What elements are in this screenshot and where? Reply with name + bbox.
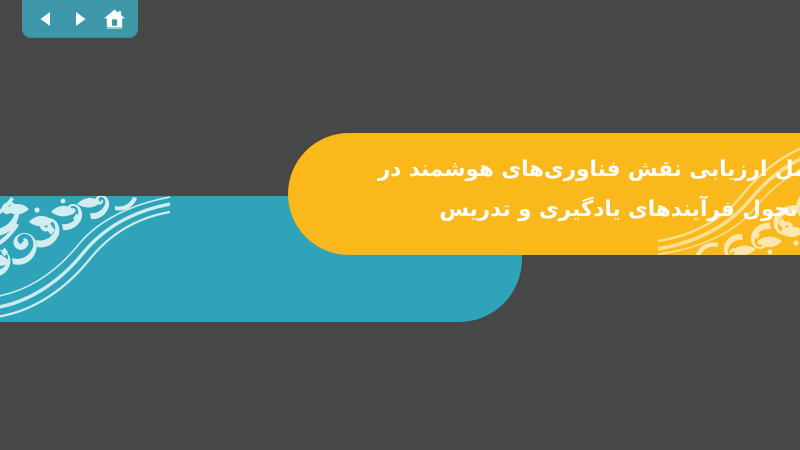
home-icon (103, 8, 126, 30)
triangle-left-icon (36, 9, 56, 29)
slide-title: کامل ارزیابی نقش فناوری‌های هوشمند در تح… (288, 150, 800, 230)
arabesque-ornament-icon (0, 196, 170, 322)
slide-canvas: کامل ارزیابی نقش فناوری‌های هوشمند در تح… (0, 0, 800, 450)
triangle-right-icon (70, 9, 90, 29)
previous-button[interactable] (33, 6, 59, 32)
title-line-1: کامل ارزیابی نقش فناوری‌های هوشمند در (316, 150, 800, 190)
title-line-2: تحول فرآیندهای یادگیری و تدریس (286, 190, 798, 230)
next-button[interactable] (67, 6, 93, 32)
home-button[interactable] (101, 6, 127, 32)
navigation-bar[interactable] (22, 0, 138, 38)
